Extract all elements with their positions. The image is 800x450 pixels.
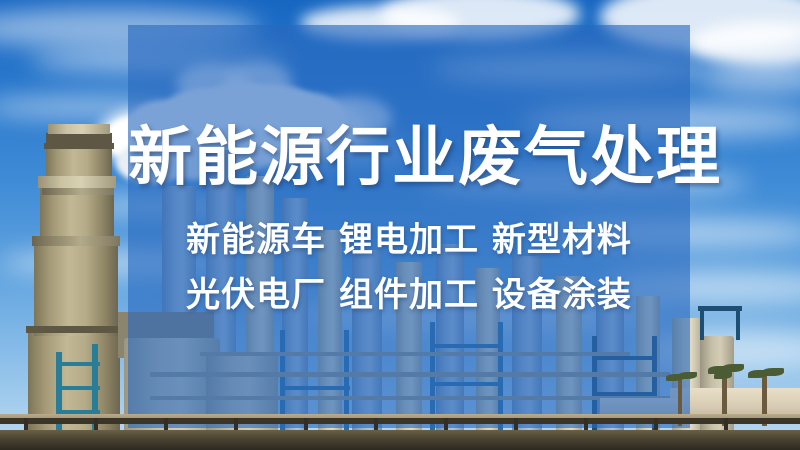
banner-text-block: 新能源行业废气处理 新能源车 锂电加工 新型材料 光伏电厂 组件加工 设备涂装 bbox=[128, 25, 690, 428]
banner-subtitle-line-1: 新能源车 锂电加工 新型材料 bbox=[128, 223, 690, 257]
banner-headline: 新能源行业废气处理 bbox=[128, 126, 690, 190]
hero-banner: 新能源行业废气处理 新能源车 锂电加工 新型材料 光伏电厂 组件加工 设备涂装 bbox=[0, 0, 800, 450]
banner-subtitle-line-2: 光伏电厂 组件加工 设备涂装 bbox=[128, 278, 690, 312]
